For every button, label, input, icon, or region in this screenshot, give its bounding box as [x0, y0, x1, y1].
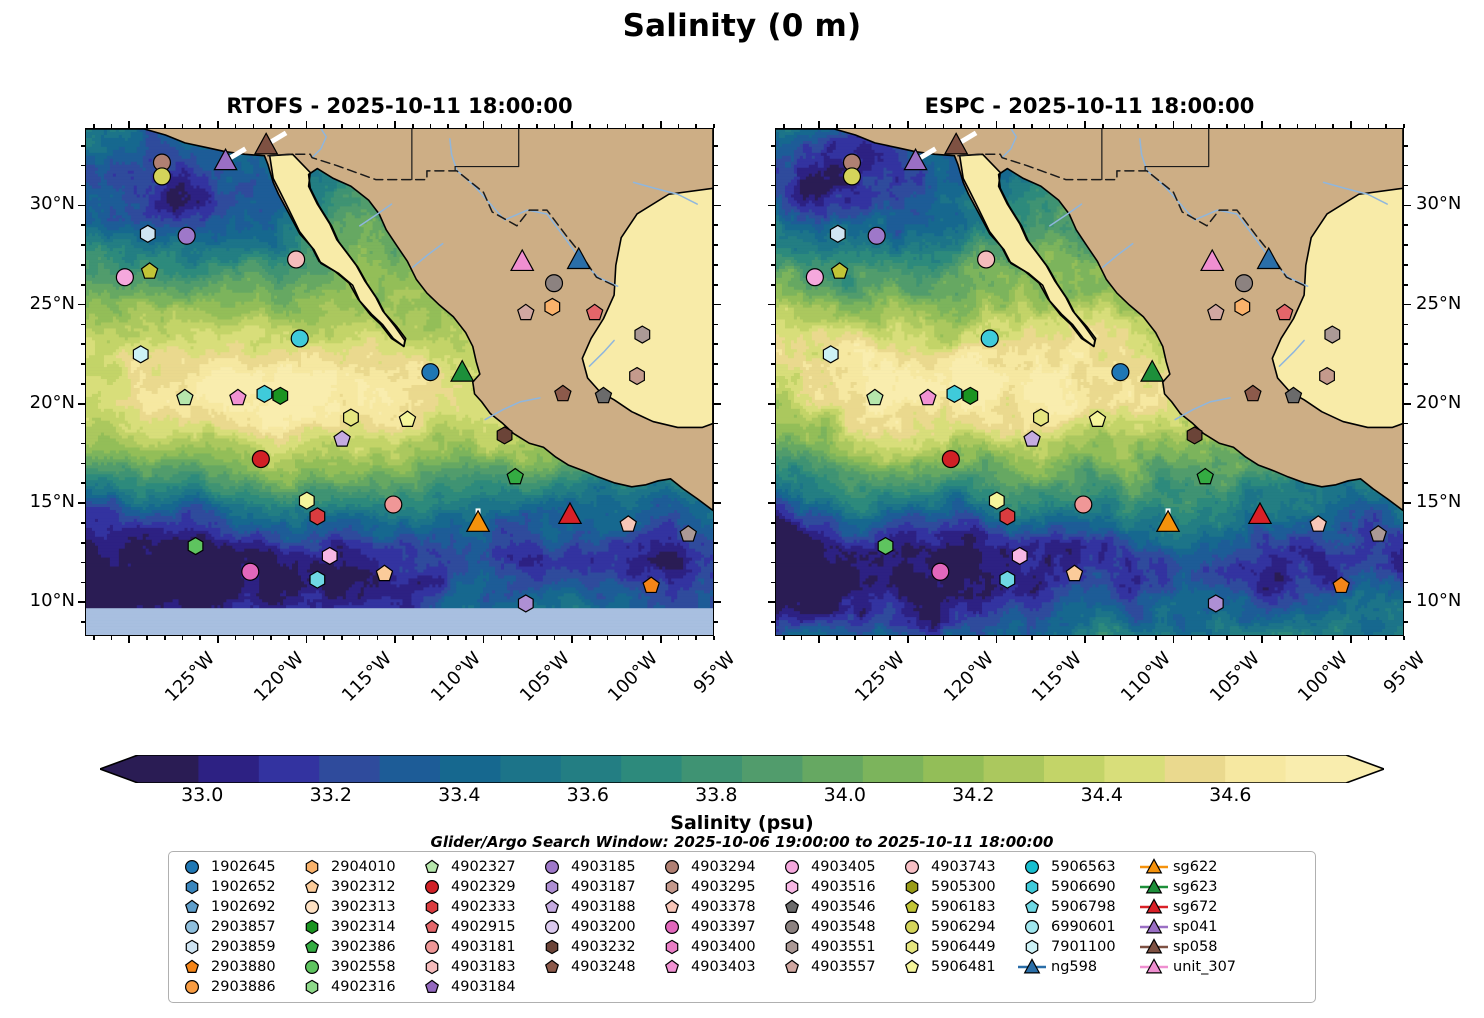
colorbar-tick-label: 33.2 — [310, 784, 352, 806]
legend-item[interactable]: 2903886 — [175, 977, 295, 997]
ytick-espc — [771, 244, 775, 246]
legend-item[interactable]: 1902652 — [175, 877, 295, 897]
colorbar-tick-label: 33.4 — [438, 784, 480, 806]
x-axis-label: 115°W — [338, 648, 396, 706]
legend-label: 4903546 — [809, 899, 876, 915]
legend-marker-hexagon-icon — [655, 877, 689, 897]
ytick-right-espc — [1404, 383, 1408, 385]
colorbar-band — [863, 755, 924, 783]
x-axis-label: 115°W — [1028, 648, 1086, 706]
ytick-rtofs — [78, 304, 85, 306]
observation-marker — [823, 346, 838, 363]
legend-item[interactable]: 1902645 — [175, 857, 295, 877]
legend-label: 1902692 — [209, 899, 276, 915]
xtick-top-espc — [872, 124, 874, 128]
legend-marker-circle-icon — [775, 917, 809, 937]
xtick-rtofs — [713, 636, 715, 640]
legend-label: sp041 — [1171, 919, 1217, 935]
ytick-right-rtofs — [714, 244, 718, 246]
observation-marker — [422, 364, 439, 381]
legend-item[interactable]: 3902314 — [295, 917, 415, 937]
ytick-rtofs — [81, 363, 85, 365]
legend-marker-circle-icon — [1015, 917, 1049, 937]
xtick-espc — [1403, 636, 1405, 640]
y-axis-label-right: 10°N — [1416, 590, 1461, 611]
xtick-espc — [1208, 636, 1210, 640]
ytick-right-espc — [1404, 343, 1408, 345]
xtick-top-rtofs — [111, 124, 113, 128]
legend-marker-pentagon-icon — [535, 897, 569, 917]
observation-marker — [932, 563, 949, 580]
legend-item[interactable]: 4903378 — [655, 897, 775, 917]
observation-marker — [630, 368, 645, 385]
xtick-rtofs — [164, 636, 166, 640]
x-axis-label: 100°W — [604, 648, 662, 706]
xtick-top-espc — [801, 124, 803, 128]
xtick-rtofs — [518, 636, 520, 640]
legend-label: 5906563 — [1049, 859, 1116, 875]
xtick-rtofs — [447, 636, 449, 640]
legend-marker-hexagon-icon — [895, 877, 929, 897]
ytick-espc — [771, 482, 775, 484]
xtick-rtofs — [128, 636, 130, 643]
x-axis-label: 95°W — [1379, 648, 1429, 698]
legend-item[interactable]: 2903857 — [175, 917, 295, 937]
legend-marker-triangle-line-icon — [1015, 957, 1049, 977]
observation-marker — [299, 492, 314, 509]
xtick-rtofs — [412, 636, 414, 640]
xtick-top-espc — [889, 124, 891, 128]
legend-item[interactable]: 3902312 — [295, 877, 415, 897]
xtick-rtofs — [695, 636, 697, 640]
legend-item[interactable]: 5906690 — [1015, 877, 1137, 897]
xtick-top-espc — [1137, 124, 1139, 128]
legend-marker-hexagon-icon — [655, 937, 689, 957]
legend-marker-pentagon-icon — [655, 897, 689, 917]
xtick-rtofs — [483, 636, 485, 643]
legend-label: ng598 — [1049, 959, 1097, 975]
ytick-espc — [768, 601, 775, 603]
legend-item[interactable]: 4903516 — [775, 877, 895, 897]
ytick-rtofs — [81, 463, 85, 465]
xtick-top-rtofs — [199, 124, 201, 128]
ytick-right-espc — [1404, 324, 1408, 326]
xtick-espc — [836, 636, 838, 640]
legend-item[interactable]: 2903859 — [175, 937, 295, 957]
legend-item[interactable]: 4903248 — [535, 957, 655, 977]
legend-item[interactable]: 4903200 — [535, 917, 655, 937]
legend-marker-triangle-line-icon — [1137, 897, 1171, 917]
ytick-right-espc — [1404, 482, 1408, 484]
xtick-top-rtofs — [483, 121, 485, 128]
legend-label: sg622 — [1171, 859, 1217, 875]
xtick-rtofs — [341, 636, 343, 640]
legend-item[interactable]: 4903557 — [775, 957, 895, 977]
ytick-right-espc — [1404, 363, 1408, 365]
legend-item[interactable]: 4903181 — [415, 937, 535, 957]
legend-label: 4903516 — [809, 879, 876, 895]
observation-marker — [385, 496, 402, 513]
legend-item[interactable]: 4903551 — [775, 937, 895, 957]
legend-item[interactable]: 4903183 — [415, 957, 535, 977]
map-render-espc — [776, 129, 1403, 635]
legend-marker-triangle-line-icon — [1137, 917, 1171, 937]
ytick-right-espc — [1404, 165, 1408, 167]
legend-label: 4903183 — [449, 959, 516, 975]
xtick-espc — [1155, 636, 1157, 640]
map-render-rtofs — [86, 129, 713, 635]
ytick-right-espc — [1404, 443, 1408, 445]
xtick-espc — [960, 636, 962, 640]
legend-label: 4902327 — [449, 859, 516, 875]
colorbar-band — [561, 755, 622, 783]
legend-marker-circle-icon — [775, 857, 809, 877]
ytick-right-espc — [1404, 224, 1408, 226]
legend-marker-triangle-line-icon — [1137, 957, 1171, 977]
ytick-espc — [771, 542, 775, 544]
xtick-espc — [1049, 636, 1051, 640]
xtick-espc — [996, 636, 998, 643]
xtick-top-espc — [1120, 124, 1122, 128]
xtick-top-rtofs — [412, 124, 414, 128]
legend-marker-circle-icon — [535, 857, 569, 877]
legend-column: 4903743590530059061835906294590644959064… — [895, 857, 1015, 977]
ytick-espc — [771, 582, 775, 584]
observation-marker — [635, 326, 650, 343]
xtick-top-rtofs — [235, 124, 237, 128]
ytick-espc — [768, 205, 775, 207]
ytick-rtofs — [78, 205, 85, 207]
xtick-top-espc — [907, 121, 909, 128]
map-canvas-espc[interactable] — [775, 128, 1404, 636]
ytick-rtofs — [81, 522, 85, 524]
legend-marker-hexagon-icon — [535, 877, 569, 897]
observation-marker — [116, 269, 133, 286]
legend-label: 2903880 — [209, 959, 276, 975]
legend-marker-pentagon-icon — [895, 897, 929, 917]
legend-label: 2903859 — [209, 939, 276, 955]
legend-marker-pentagon-icon — [415, 977, 449, 997]
ytick-right-espc — [1404, 145, 1408, 147]
legend-label: sp058 — [1171, 939, 1217, 955]
ytick-right-espc — [1404, 205, 1411, 207]
xtick-top-rtofs — [430, 124, 432, 128]
ytick-rtofs — [81, 343, 85, 345]
legend-item[interactable]: 4903403 — [655, 957, 775, 977]
legend-item[interactable]: 5906294 — [895, 917, 1015, 937]
xtick-top-espc — [1368, 124, 1370, 128]
xtick-top-espc — [818, 121, 820, 128]
legend-label: sg672 — [1171, 899, 1217, 915]
legend-item[interactable]: 4903546 — [775, 897, 895, 917]
observation-marker — [1235, 298, 1250, 315]
legend-label: unit_307 — [1171, 959, 1236, 975]
colorbar-extend-max — [1346, 755, 1384, 783]
legend-label: 5906798 — [1049, 899, 1116, 915]
xtick-rtofs — [235, 636, 237, 640]
legend-item[interactable]: 4902333 — [415, 897, 535, 917]
observation-marker — [1075, 496, 1092, 513]
ytick-right-espc — [1404, 403, 1411, 405]
ytick-espc — [771, 224, 775, 226]
xtick-top-espc — [1385, 124, 1387, 128]
legend-item[interactable]: 4903184 — [415, 977, 535, 997]
legend-label: 5906690 — [1049, 879, 1116, 895]
legend-item[interactable]: 5906481 — [895, 957, 1015, 977]
observation-marker — [1012, 547, 1027, 564]
legend-item[interactable]: ng598 — [1015, 957, 1137, 977]
legend-item[interactable]: sg623 — [1137, 877, 1257, 897]
legend-item[interactable]: 3902313 — [295, 897, 415, 917]
legend-label: 2904010 — [329, 859, 396, 875]
ytick-right-rtofs — [714, 284, 718, 286]
xtick-top-espc — [1031, 124, 1033, 128]
ytick-right-rtofs — [714, 621, 718, 623]
legend-column: 4903405490351649035464903548490355149035… — [775, 857, 895, 977]
legend-column: sg622sg623sg672sp041sp058unit_307 — [1137, 857, 1257, 977]
legend-item[interactable]: sp058 — [1137, 937, 1257, 957]
xtick-rtofs — [111, 636, 113, 640]
ytick-right-espc — [1404, 284, 1408, 286]
legend-item[interactable]: 3902386 — [295, 937, 415, 957]
ytick-espc — [768, 403, 775, 405]
colorbar-band — [984, 755, 1045, 783]
xtick-rtofs — [288, 636, 290, 640]
legend-item[interactable]: 4902327 — [415, 857, 535, 877]
ytick-right-espc — [1404, 304, 1411, 306]
legend-item[interactable]: 4902915 — [415, 917, 535, 937]
colorbar-tick-label: 34.0 — [824, 784, 866, 806]
legend-item[interactable]: 4903743 — [895, 857, 1015, 877]
observation-marker — [1320, 368, 1335, 385]
observation-marker — [242, 563, 259, 580]
y-axis-label-left: 10°N — [0, 590, 75, 611]
observation-marker — [1325, 326, 1340, 343]
legend-label: 2903857 — [209, 919, 276, 935]
xtick-espc — [1120, 636, 1122, 640]
ytick-rtofs — [81, 324, 85, 326]
legend-label: 4902329 — [449, 879, 516, 895]
xtick-top-espc — [925, 124, 927, 128]
legend-column: 2904010390231239023133902314390238639025… — [295, 857, 415, 997]
xtick-top-espc — [978, 124, 980, 128]
colorbar-tick-label: 33.8 — [695, 784, 737, 806]
y-axis-label-left: 30°N — [0, 193, 75, 214]
colorbar-band — [259, 755, 320, 783]
ytick-rtofs — [81, 621, 85, 623]
legend-item[interactable]: 4903232 — [535, 937, 655, 957]
map-canvas-rtofs[interactable] — [85, 128, 714, 636]
observation-marker — [518, 595, 533, 612]
legend-item[interactable]: 3902558 — [295, 957, 415, 977]
legend-item[interactable]: 2904010 — [295, 857, 415, 877]
ytick-right-rtofs — [714, 304, 721, 306]
legend-label: 6990601 — [1049, 919, 1116, 935]
observation-marker — [310, 571, 325, 588]
xtick-top-espc — [1315, 124, 1317, 128]
xtick-top-espc — [1261, 121, 1263, 128]
legend-marker-circle-icon — [175, 857, 209, 877]
xtick-rtofs — [536, 636, 538, 640]
legend-label: 4903188 — [569, 899, 636, 915]
xtick-rtofs — [571, 636, 573, 643]
ytick-espc — [771, 562, 775, 564]
legend-item[interactable]: 2903880 — [175, 957, 295, 977]
colorbar-tick-label: 34.6 — [1209, 784, 1251, 806]
legend-label: 4902915 — [449, 919, 516, 935]
x-axis-label: 125°W — [161, 648, 219, 706]
observation-marker — [310, 508, 325, 525]
ytick-espc — [771, 324, 775, 326]
ytick-espc — [771, 443, 775, 445]
observation-marker — [963, 387, 978, 404]
xtick-rtofs — [323, 636, 325, 640]
y-axis-label-left: 15°N — [0, 491, 75, 512]
legend-item[interactable]: 4903405 — [775, 857, 895, 877]
xtick-top-rtofs — [625, 124, 627, 128]
legend-item[interactable]: unit_307 — [1137, 957, 1257, 977]
observation-marker — [133, 346, 148, 363]
ytick-right-rtofs — [714, 423, 718, 425]
ytick-right-rtofs — [714, 443, 718, 445]
legend-item[interactable]: sg672 — [1137, 897, 1257, 917]
xtick-top-rtofs — [253, 124, 255, 128]
xtick-top-espc — [996, 121, 998, 128]
legend-marker-hexagon-icon — [1015, 877, 1049, 897]
legend-marker-circle-icon — [535, 917, 569, 937]
xtick-rtofs — [253, 636, 255, 640]
legend-marker-circle-icon — [415, 877, 449, 897]
xtick-top-espc — [1102, 124, 1104, 128]
xtick-rtofs — [306, 636, 308, 643]
legend-marker-hexagon-icon — [775, 877, 809, 897]
ytick-rtofs — [81, 562, 85, 564]
legend-marker-pentagon-icon — [895, 957, 929, 977]
legend-label: 5906449 — [929, 939, 996, 955]
xtick-top-espc — [1191, 124, 1193, 128]
observation-marker — [806, 269, 823, 286]
legend-item[interactable]: 7901100 — [1015, 937, 1137, 957]
ytick-right-rtofs — [714, 324, 718, 326]
legend-label: 4903232 — [569, 939, 636, 955]
colorbar-band — [1225, 755, 1286, 783]
legend-marker-hexagon-icon — [175, 937, 209, 957]
legend-label: 4903248 — [569, 959, 636, 975]
legend-item[interactable]: 4903295 — [655, 877, 775, 897]
legend-item[interactable]: 4903187 — [535, 877, 655, 897]
observation-marker — [178, 227, 195, 244]
ytick-right-espc — [1404, 621, 1408, 623]
legend-item[interactable]: 5906798 — [1015, 897, 1137, 917]
xtick-espc — [943, 636, 945, 640]
ytick-right-rtofs — [714, 185, 718, 187]
legend-marker-pentagon-icon — [775, 957, 809, 977]
legend-item[interactable]: 4903397 — [655, 917, 775, 937]
legend-item[interactable]: 6990601 — [1015, 917, 1137, 937]
ytick-rtofs — [81, 185, 85, 187]
xtick-top-rtofs — [270, 124, 272, 128]
xtick-espc — [1332, 636, 1334, 640]
platform-legend[interactable]: 1902645190265219026922903857290385929038… — [168, 851, 1316, 1003]
xtick-top-rtofs — [695, 124, 697, 128]
ytick-right-rtofs — [714, 205, 721, 207]
y-axis-label-right: 30°N — [1416, 193, 1461, 214]
xtick-top-rtofs — [377, 124, 379, 128]
xtick-top-espc — [1208, 124, 1210, 128]
xtick-espc — [889, 636, 891, 640]
legend-label: sg623 — [1171, 879, 1217, 895]
legend-label: 4903557 — [809, 959, 876, 975]
legend-item[interactable]: 1902692 — [175, 897, 295, 917]
legend-label: 4903295 — [689, 879, 756, 895]
page-title: Salinity (0 m) — [0, 8, 1484, 44]
legend-item[interactable]: sg622 — [1137, 857, 1257, 877]
legend-label: 4903294 — [689, 859, 756, 875]
xtick-top-espc — [1155, 124, 1157, 128]
colorbar-band — [198, 755, 259, 783]
legend-marker-pentagon-icon — [175, 897, 209, 917]
panel-title-espc: ESPC - 2025-10-11 18:00:00 — [775, 94, 1404, 118]
legend-item[interactable]: 4903548 — [775, 917, 895, 937]
legend-item[interactable]: 4902316 — [295, 977, 415, 997]
legend-item[interactable]: 5905300 — [895, 877, 1015, 897]
xtick-top-espc — [1173, 121, 1175, 128]
legend-item[interactable]: 5906183 — [895, 897, 1015, 917]
xtick-espc — [1013, 636, 1015, 640]
ytick-rtofs — [78, 601, 85, 603]
legend-label: 4903187 — [569, 879, 636, 895]
observation-marker — [252, 451, 269, 468]
xtick-espc — [1137, 636, 1139, 640]
x-axis-label: 110°W — [427, 648, 485, 706]
legend-marker-triangle-line-icon — [1137, 877, 1171, 897]
y-axis-label-left: 25°N — [0, 293, 75, 314]
legend-item[interactable]: 4903294 — [655, 857, 775, 877]
legend-item[interactable]: sp041 — [1137, 917, 1257, 937]
legend-marker-pentagon-icon — [775, 897, 809, 917]
legend-column: 4902327490232949023334902915490318149031… — [415, 857, 535, 997]
xtick-espc — [1385, 636, 1387, 640]
legend-item[interactable]: 4903188 — [535, 897, 655, 917]
x-axis-label: 120°W — [940, 648, 998, 706]
colorbar-tick-label: 33.6 — [567, 784, 609, 806]
xtick-rtofs — [678, 636, 680, 640]
xtick-top-rtofs — [713, 124, 715, 128]
xtick-rtofs — [430, 636, 432, 640]
ytick-right-espc — [1404, 244, 1408, 246]
xtick-espc — [1102, 636, 1104, 640]
colorbar-band — [621, 755, 682, 783]
colorbar-axis-label: Salinity (psu) — [0, 812, 1484, 834]
xtick-top-rtofs — [306, 121, 308, 128]
legend-item[interactable]: 5906449 — [895, 937, 1015, 957]
xtick-rtofs — [93, 636, 95, 640]
legend-item[interactable]: 5906563 — [1015, 857, 1137, 877]
legend-item[interactable]: 4902329 — [415, 877, 535, 897]
legend-item[interactable]: 4903185 — [535, 857, 655, 877]
ytick-right-rtofs — [714, 502, 721, 504]
colorbar-band — [742, 755, 803, 783]
legend-item[interactable]: 4903400 — [655, 937, 775, 957]
ytick-right-espc — [1404, 264, 1408, 266]
colorbar-tick-label: 34.4 — [1081, 784, 1123, 806]
xtick-top-rtofs — [607, 124, 609, 128]
legend-marker-pentagon-icon — [655, 957, 689, 977]
ytick-espc — [768, 502, 775, 504]
ytick-espc — [771, 621, 775, 623]
xtick-rtofs — [465, 636, 467, 640]
xtick-top-rtofs — [589, 124, 591, 128]
